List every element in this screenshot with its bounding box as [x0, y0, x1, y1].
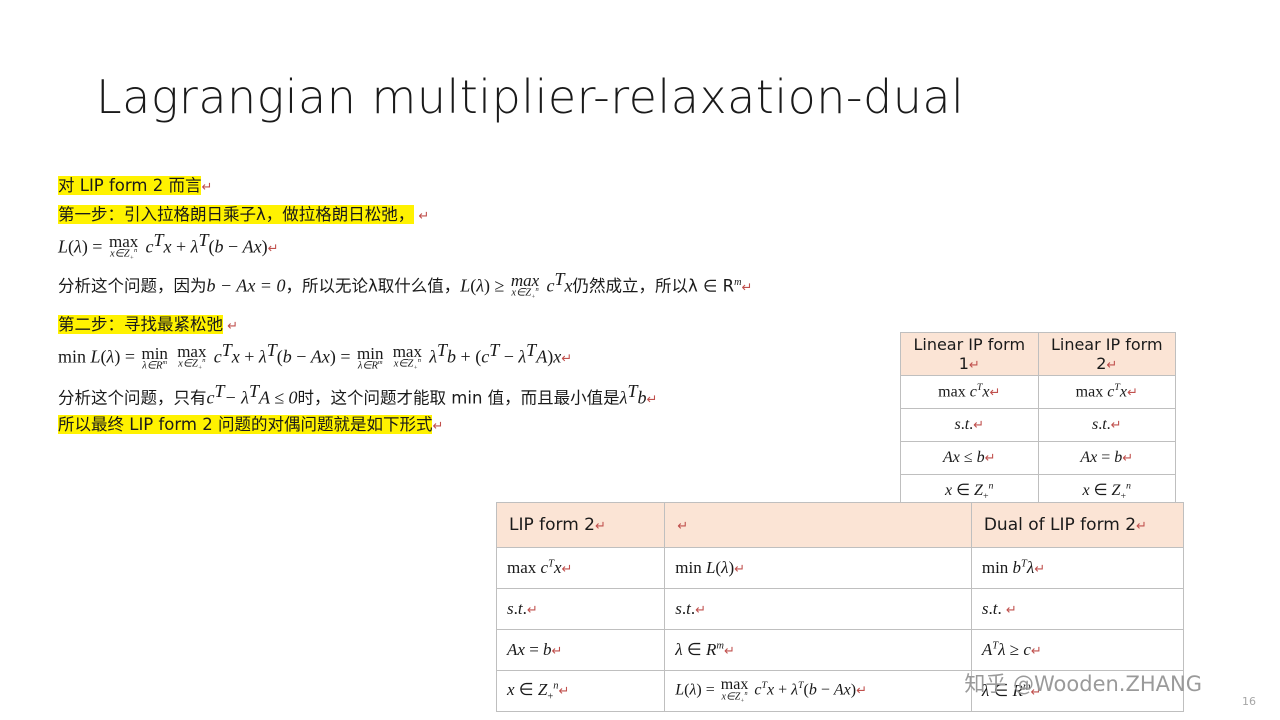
table-header-dual: Dual of LIP form 2↵ — [971, 503, 1183, 548]
pilcrow-icon: ↵ — [1136, 519, 1147, 534]
header-text: LIP form 2 — [509, 515, 595, 535]
body-line-2-text: 第一步：引入拉格朗日乘子λ，做拉格朗日松弛， — [58, 205, 414, 224]
body-line-1: 对 LIP form 2 而言↵ — [58, 172, 212, 196]
cell-primal-constraint: Ax = b↵ — [497, 630, 665, 671]
cell-lagrangian-objective: min L(λ)↵ — [665, 548, 972, 589]
body-line-3-formula: L(λ) = max x∈Z+n cTx + λT(b − Ax)↵ — [58, 230, 279, 263]
header-text: Dual of LIP form 2 — [984, 515, 1136, 535]
body-line-7-part-e: 时，这个问题才能取 min 值，而且最小值是 — [298, 389, 620, 408]
body-line-8: 所以最终 LIP form 2 问题的对偶问题就是如下形式↵ — [58, 411, 443, 435]
max-operator: max x∈Z+n — [393, 343, 422, 372]
cell-dual-st: s.t. ↵ — [971, 589, 1183, 630]
pilcrow-icon: ↵ — [741, 281, 752, 296]
max-operator: max x∈Z+n — [177, 343, 206, 372]
body-line-2: 第一步：引入拉格朗日乘子λ，做拉格朗日松弛， ↵ — [58, 201, 429, 225]
pilcrow-icon: ↵ — [223, 319, 238, 334]
pilcrow-icon: ↵ — [646, 393, 657, 408]
body-line-4-part-b: b − Ax = 0 — [207, 276, 286, 296]
min-operator: min λ∈Rm — [357, 345, 383, 372]
body-line-7-part-b: c — [207, 388, 215, 408]
cell-dual-objective: min bTλ↵ — [971, 548, 1183, 589]
page-title: Lagrangian multiplier-relaxation-dual — [96, 70, 964, 124]
max-operator: max x∈Z+n — [721, 677, 749, 705]
body-line-7-part-c: − λ — [225, 388, 249, 408]
table-row: s.t.↵ s.t.↵ — [901, 409, 1176, 442]
pilcrow-icon: ↵ — [432, 419, 443, 434]
pilcrow-icon: ↵ — [268, 242, 279, 257]
body-line-5: 第二步：寻找最紧松弛 ↵ — [58, 311, 238, 335]
cell-lagrangian-constraint: λ ∈ Rm↵ — [665, 630, 972, 671]
pilcrow-icon: ↵ — [595, 519, 606, 534]
table-header-lip-form2: LIP form 2↵ — [497, 503, 665, 548]
body-line-7-part-a: 分析这个问题，只有 — [58, 389, 207, 408]
cell-dual-constraint: ATλ ≥ c↵ — [971, 630, 1183, 671]
table-linear-ip-forms: Linear IP form 1↵ Linear IP form 2↵ max … — [900, 332, 1176, 508]
watermark: 知乎 @Wooden.ZHANG — [964, 668, 1202, 698]
pilcrow-icon: ↵ — [677, 519, 688, 534]
cell-primal-st: s.t.↵ — [497, 589, 665, 630]
cell-form2-objective: max cTx↵ — [1038, 376, 1176, 409]
table-row: Ax = b↵ λ ∈ Rm↵ ATλ ≥ c↵ — [497, 630, 1184, 671]
body-line-4: 分析这个问题，因为b − Ax = 0，所以无论λ取什么值，L(λ) ≥ max… — [58, 269, 752, 302]
pilcrow-icon: ↵ — [561, 352, 572, 367]
page-number: 16 — [1242, 695, 1256, 708]
cell-primal-domain: x ∈ Z+n↵ — [497, 671, 665, 712]
pilcrow-icon: ↵ — [414, 209, 429, 224]
table-header-cell: Linear IP form 1↵ — [901, 333, 1039, 376]
cell-form1-objective: max cTx↵ — [901, 376, 1039, 409]
body-line-6-formula: min L(λ) = min λ∈Rm max x∈Z+n cTx + λT(b… — [58, 340, 572, 373]
table-row: Ax ≤ b↵ Ax = b↵ — [901, 442, 1176, 475]
body-line-4-part-a: 分析这个问题，因为 — [58, 277, 207, 296]
body-line-4-part-c: ，所以无论λ取什么值， — [285, 277, 460, 296]
body-line-7-part-d: A ≤ 0 — [259, 388, 298, 408]
cell-form1-constraint: Ax ≤ b↵ — [901, 442, 1039, 475]
table-row: s.t.↵ s.t.↵ s.t. ↵ — [497, 589, 1184, 630]
cell-form2-constraint: Ax = b↵ — [1038, 442, 1176, 475]
pilcrow-icon: ↵ — [201, 180, 212, 195]
body-line-1-text: 对 LIP form 2 而言 — [58, 176, 201, 195]
table-row-header: Linear IP form 1↵ Linear IP form 2↵ — [901, 333, 1176, 376]
pilcrow-icon: ↵ — [1106, 358, 1117, 373]
cell-form2-st: s.t.↵ — [1038, 409, 1176, 442]
pilcrow-icon: ↵ — [969, 358, 980, 373]
slide-canvas: Lagrangian multiplier-relaxation-dual 对 … — [0, 0, 1280, 720]
body-line-7: 分析这个问题，只有cT− λTA ≤ 0时，这个问题才能取 min 值，而且最小… — [58, 381, 657, 409]
min-operator: min λ∈Rm — [141, 345, 167, 372]
body-line-4-part-e: 仍然成立，所以λ ∈ R — [573, 277, 735, 296]
cell-lagrangian-st: s.t.↵ — [665, 589, 972, 630]
table-row: max cTx↵ max cTx↵ — [901, 376, 1176, 409]
cell-primal-objective: max cTx↵ — [497, 548, 665, 589]
table-header-cell: Linear IP form 2↵ — [1038, 333, 1176, 376]
table-row-header: LIP form 2↵ ↵ Dual of LIP form 2↵ — [497, 503, 1184, 548]
body-line-5-text: 第二步：寻找最紧松弛 — [58, 315, 223, 334]
cell-lagrangian-definition: L(λ) = max x∈Z+n cTx + λT(b − Ax)↵ — [665, 671, 972, 712]
table-header-middle: ↵ — [665, 503, 972, 548]
max-operator: max x∈Z+n — [109, 233, 138, 262]
max-operator: max x∈Z+n — [511, 272, 539, 301]
cell-form1-st: s.t.↵ — [901, 409, 1039, 442]
table-row: max cTx↵ min L(λ)↵ min bTλ↵ — [497, 548, 1184, 589]
body-line-8-text: 所以最终 LIP form 2 问题的对偶问题就是如下形式 — [58, 415, 432, 434]
